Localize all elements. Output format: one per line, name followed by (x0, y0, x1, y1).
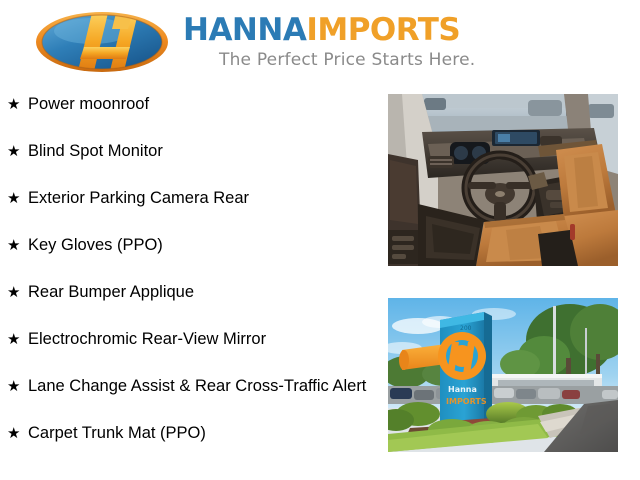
star-bullet-icon: ★ (7, 422, 20, 446)
feature-label: Carpet Trunk Mat (PPO) (28, 421, 380, 445)
star-bullet-icon: ★ (7, 281, 20, 305)
feature-label: Exterior Parking Camera Rear (28, 186, 380, 210)
brand-wordmark: HANNAIMPORTS (183, 13, 460, 47)
hanna-oval-h-logo-icon (32, 11, 172, 73)
svg-text:200: 200 (460, 325, 472, 332)
feature-label: Lane Change Assist & Rear Cross-Traffic … (28, 374, 380, 398)
list-item: ★ Rear Bumper Applique (0, 280, 380, 310)
feature-label: Electrochromic Rear-View Mirror (28, 327, 380, 351)
svg-text:IMPORTS: IMPORTS (446, 397, 487, 406)
list-item: ★ Lane Change Assist & Rear Cross-Traffi… (0, 374, 380, 404)
dealership-sign-photo[interactable]: 200 Hanna IMPORTS (388, 298, 618, 452)
star-bullet-icon: ★ (7, 140, 20, 164)
brand-wordmark-hanna: HANNA (183, 12, 306, 48)
star-bullet-icon: ★ (7, 93, 20, 117)
star-bullet-icon: ★ (7, 375, 20, 399)
vehicle-features-list: ★ Power moonroof ★ Blind Spot Monitor ★ … (0, 92, 380, 468)
list-item: ★ Blind Spot Monitor (0, 139, 380, 169)
page-header: HANNAIMPORTS The Perfect Price Starts He… (0, 0, 640, 88)
list-item: ★ Power moonroof (0, 92, 380, 122)
star-bullet-icon: ★ (7, 234, 20, 258)
feature-label: Power moonroof (28, 92, 380, 116)
list-item: ★ Key Gloves (PPO) (0, 233, 380, 263)
list-item: ★ Exterior Parking Camera Rear (0, 186, 380, 216)
feature-label: Key Gloves (PPO) (28, 233, 380, 257)
brand-wordmark-imports: IMPORTS (306, 12, 460, 48)
brand-tagline: The Perfect Price Starts Here. (219, 50, 475, 70)
list-item: ★ Carpet Trunk Mat (PPO) (0, 421, 380, 451)
vehicle-interior-photo[interactable] (388, 94, 618, 266)
svg-text:Hanna: Hanna (448, 385, 477, 394)
star-bullet-icon: ★ (7, 328, 20, 352)
feature-label: Rear Bumper Applique (28, 280, 380, 304)
feature-label: Blind Spot Monitor (28, 139, 380, 163)
star-bullet-icon: ★ (7, 187, 20, 211)
list-item: ★ Electrochromic Rear-View Mirror (0, 327, 380, 357)
